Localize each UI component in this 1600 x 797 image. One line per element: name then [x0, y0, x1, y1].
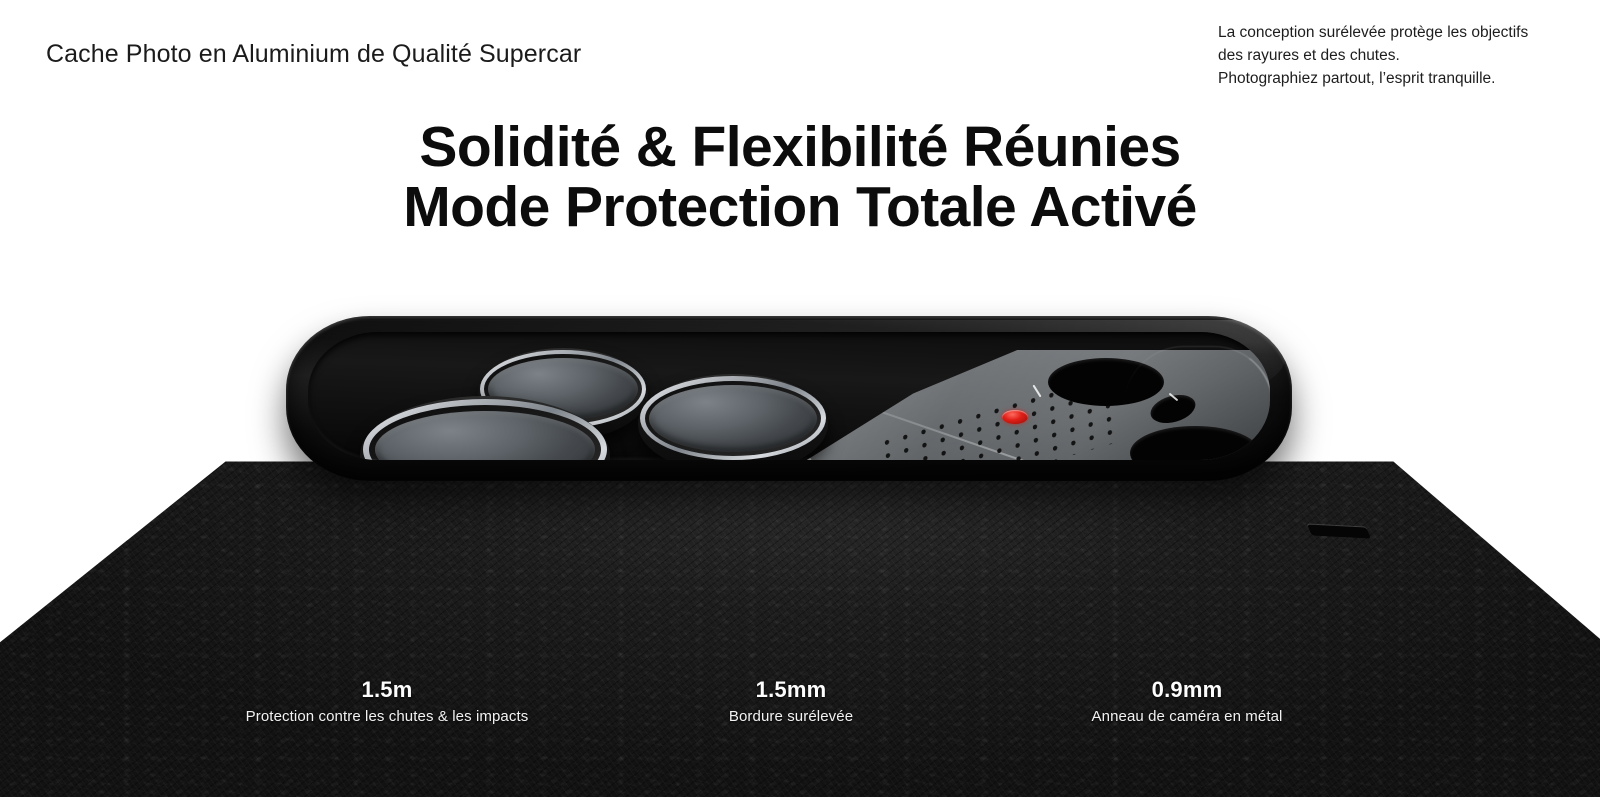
- page-title: Solidité & Flexibilité Réunies Mode Prot…: [0, 117, 1600, 238]
- camera-lens-bottom-left: [360, 396, 610, 460]
- camera-lens-right: [638, 374, 828, 460]
- feature-item: 1.5m Protection contre les chutes & les …: [246, 678, 529, 725]
- feature-value: 0.9mm: [1092, 678, 1283, 702]
- lens-glass: [649, 385, 817, 452]
- headline-line-2: Mode Protection Totale Activé: [0, 177, 1600, 237]
- top-right-note: La conception surélevée protège les obje…: [1218, 22, 1578, 90]
- plate-engraving-secondary: aluminium alloy: [834, 359, 888, 383]
- feature-value: 1.5m: [246, 678, 529, 702]
- lens-cutout-large-top: [1048, 358, 1164, 406]
- feature-item: 0.9mm Anneau de caméra en métal: [1092, 678, 1283, 725]
- feature-description: Protection contre les chutes & les impac…: [246, 708, 529, 725]
- feature-item: 1.5mm Bordure surélevée: [729, 678, 853, 725]
- camera-module: aluminium alloy Explore Urban Tech & Fut…: [286, 316, 1292, 481]
- aluminium-plate: aluminium alloy Explore Urban Tech & Fut…: [778, 350, 1270, 460]
- headline-line-1: Solidité & Flexibilité Réunies: [419, 115, 1180, 179]
- note-line-3: Photographiez partout, l’esprit tranquil…: [1218, 68, 1578, 91]
- eyebrow-title: Cache Photo en Aluminium de Qualité Supe…: [46, 40, 581, 69]
- feature-description: Bordure surélevée: [729, 708, 853, 725]
- note-line-2: des rayures et des chutes.: [1218, 45, 1578, 68]
- feature-spec-row: 1.5m Protection contre les chutes & les …: [0, 678, 1600, 748]
- led-indicator-red-dot: [1002, 410, 1028, 424]
- camera-module-inner-plate: aluminium alloy Explore Urban Tech & Fut…: [308, 332, 1270, 460]
- feature-value: 1.5mm: [729, 678, 853, 702]
- feature-description: Anneau de caméra en métal: [1092, 708, 1283, 725]
- side-button-cutout-left: [0, 599, 13, 613]
- note-line-1: La conception surélevée protège les obje…: [1218, 22, 1578, 45]
- product-feature-banner: Cache Photo en Aluminium de Qualité Supe…: [0, 0, 1600, 797]
